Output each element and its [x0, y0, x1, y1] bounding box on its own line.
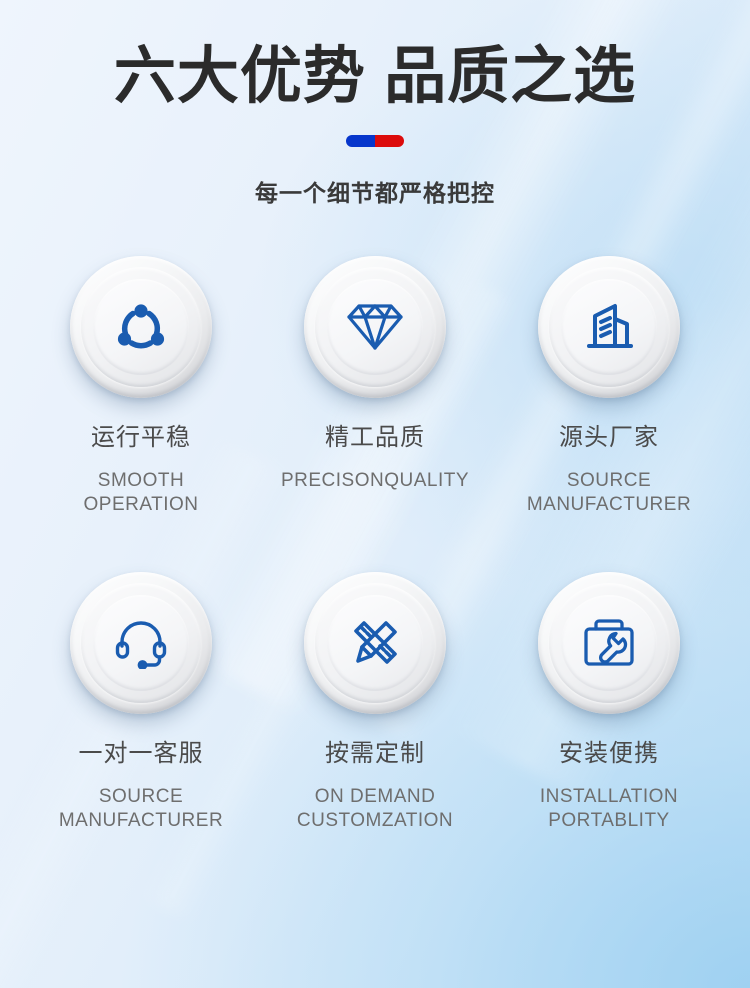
feature-label-en: SMOOTH OPERATION: [84, 469, 199, 517]
disc-face: [327, 279, 423, 375]
disc-face: [93, 279, 189, 375]
feature-card-precision-quality[interactable]: 精工品质 PRECISONQUALITY: [258, 256, 492, 516]
page-header: 六大优势 品质之选 每一个细节都严格把控: [0, 0, 750, 208]
feature-label-cn: 一对一客服: [79, 740, 204, 769]
pencil-ruler-icon: [346, 614, 404, 672]
headset-icon: [113, 617, 169, 669]
feature-label-cn: 源头厂家: [559, 424, 659, 453]
feature-label-cn: 安装便携: [559, 740, 659, 769]
factory-building-icon: [581, 299, 637, 355]
feature-card-on-demand-customization[interactable]: 按需定制 ON DEMAND CUSTOMZATION: [258, 572, 492, 832]
divider-red-half: [375, 135, 404, 147]
disc-face: [327, 595, 423, 691]
disc-face: [561, 595, 657, 691]
feature-label-en: PRECISONQUALITY: [281, 469, 469, 493]
feature-label-en: ON DEMAND CUSTOMZATION: [297, 785, 453, 833]
icon-disc: [538, 572, 680, 714]
feature-card-installation-portability[interactable]: 安装便携 INSTALLATION PORTABLITY: [492, 572, 726, 832]
title-divider: [346, 135, 404, 147]
icon-disc: [70, 256, 212, 398]
share-network-icon: [112, 298, 170, 356]
icon-disc: [304, 572, 446, 714]
divider-blue-half: [346, 135, 375, 147]
disc-face: [93, 595, 189, 691]
feature-card-source-manufacturer[interactable]: 源头厂家 SOURCE MANUFACTURER: [492, 256, 726, 516]
feature-label-cn: 运行平稳: [91, 424, 191, 453]
icon-disc: [70, 572, 212, 714]
feature-label-cn: 精工品质: [325, 424, 425, 453]
disc-face: [561, 279, 657, 375]
feature-label-cn: 按需定制: [325, 740, 425, 769]
promo-page: 六大优势 品质之选 每一个细节都严格把控: [0, 0, 750, 988]
page-title: 六大优势 品质之选: [0, 44, 750, 109]
feature-card-one-on-one-service[interactable]: 一对一客服 SOURCE MANUFACTURER: [24, 572, 258, 832]
features-grid: 运行平稳 SMOOTH OPERATION: [0, 256, 750, 833]
icon-disc: [538, 256, 680, 398]
feature-label-en: SOURCE MANUFACTURER: [59, 785, 223, 833]
feature-card-smooth-operation[interactable]: 运行平稳 SMOOTH OPERATION: [24, 256, 258, 516]
feature-label-en: SOURCE MANUFACTURER: [527, 469, 691, 517]
feature-label-en: INSTALLATION PORTABLITY: [540, 785, 678, 833]
diamond-icon: [345, 301, 405, 353]
toolbox-wrench-icon: [580, 617, 638, 669]
page-subtitle: 每一个细节都严格把控: [0, 174, 750, 208]
icon-disc: [304, 256, 446, 398]
